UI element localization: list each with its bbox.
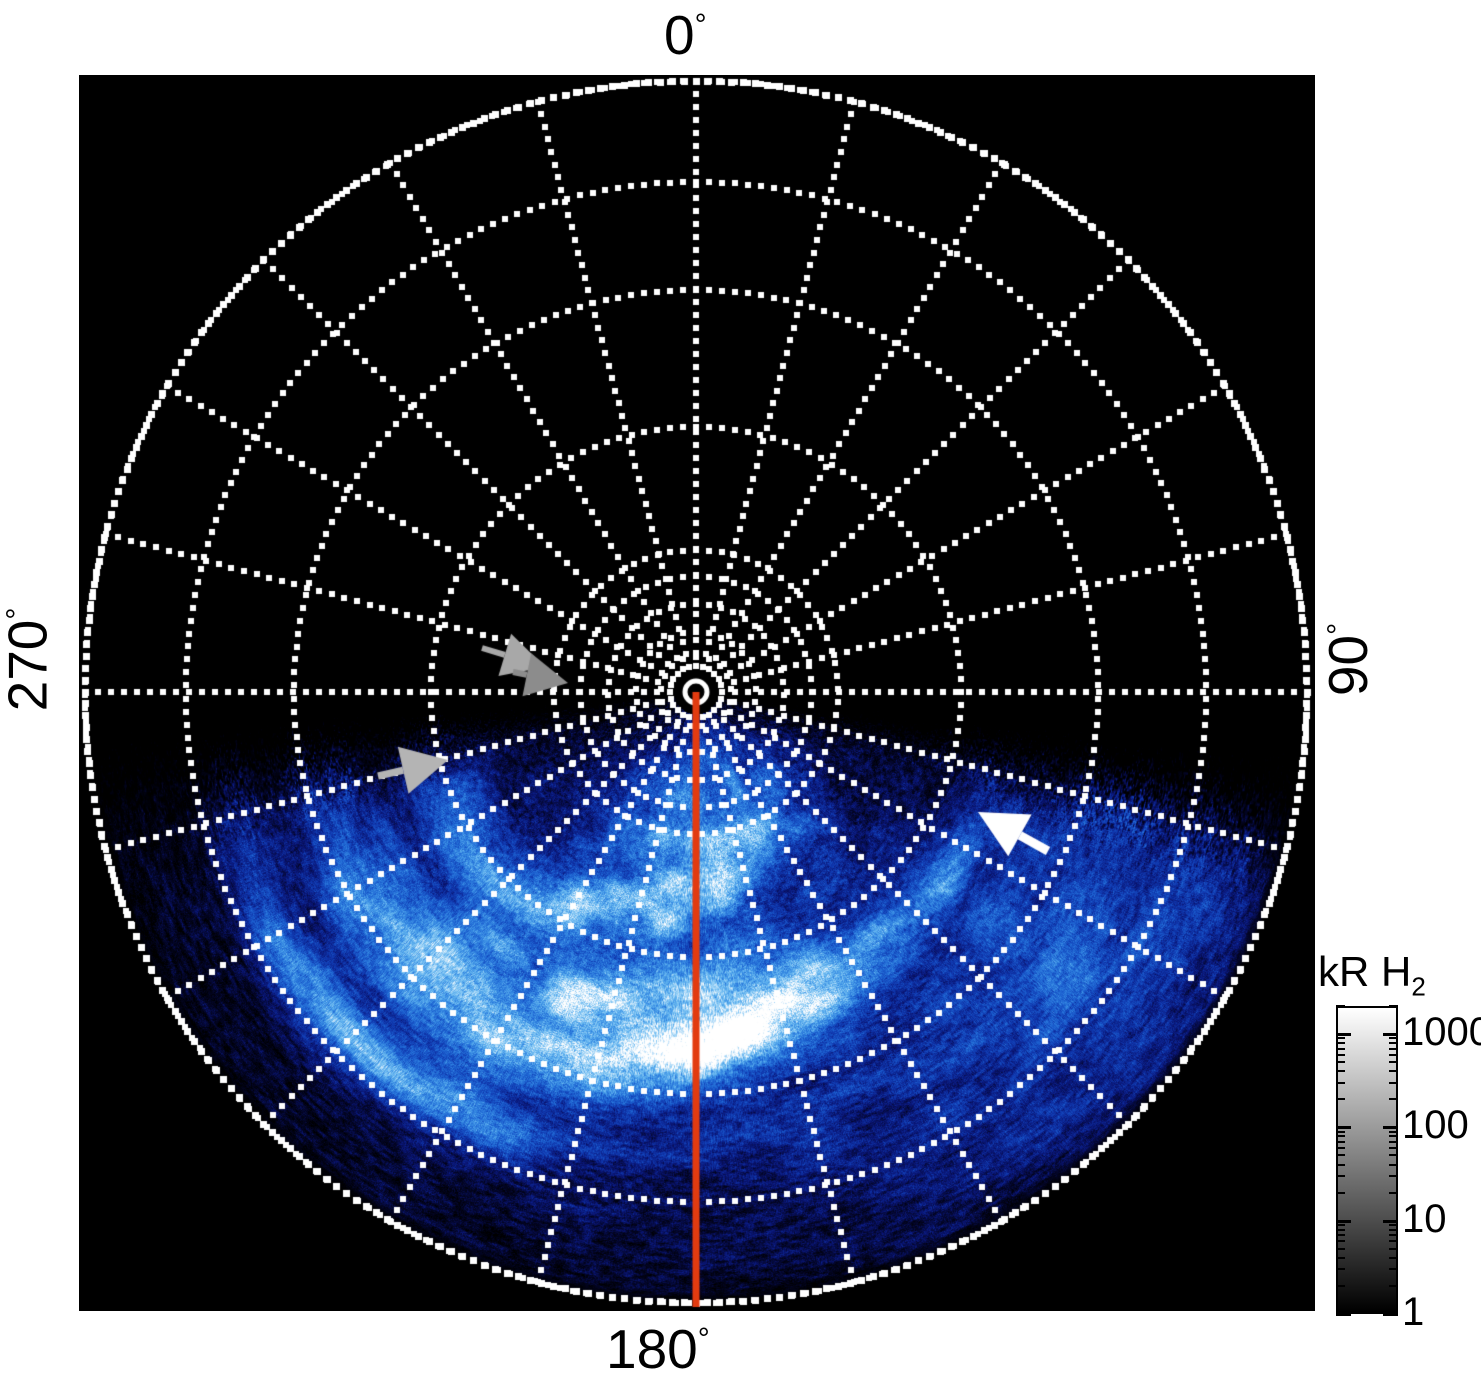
- colorbar-tick: [1336, 1313, 1351, 1316]
- colorbar-tick: [1336, 1033, 1351, 1036]
- colorbar-tick: [1389, 1054, 1398, 1056]
- colorbar-tick: [1389, 1082, 1398, 1084]
- colorbar-wrap: [1336, 1006, 1398, 1314]
- axis-label-180: 180°: [606, 1322, 710, 1377]
- colorbar-tick: [1389, 1175, 1398, 1177]
- colorbar-tick: [1336, 1042, 1345, 1044]
- colorbar-tick: [1336, 1135, 1345, 1137]
- colorbar-tick: [1389, 1164, 1398, 1166]
- colorbar-tick: [1389, 1285, 1398, 1287]
- colorbar-tick: [1336, 1154, 1345, 1156]
- colorbar-tick: [1336, 1147, 1345, 1149]
- colorbar-tick: [1389, 1234, 1398, 1236]
- colorbar-tick: [1389, 1192, 1398, 1194]
- colorbar-tick: [1389, 1098, 1398, 1100]
- colorbar-tick: [1336, 1005, 1345, 1007]
- colorbar-tick: [1383, 1313, 1398, 1316]
- colorbar-tick: [1336, 1234, 1345, 1236]
- colorbar-tick-label: 10: [1402, 1199, 1447, 1239]
- aurora-heatmap-canvas: [79, 75, 1315, 1311]
- colorbar-tick: [1389, 1131, 1398, 1133]
- colorbar-tick: [1389, 1240, 1398, 1242]
- colorbar-tick: [1389, 1248, 1398, 1250]
- colorbar-tick: [1389, 1042, 1398, 1044]
- colorbar-tick: [1389, 1229, 1398, 1231]
- colorbar-tick: [1336, 1131, 1345, 1133]
- colorbar-tick: [1389, 1224, 1398, 1226]
- axis-label-0: 0°: [664, 8, 707, 63]
- axis-label-270: 270°: [0, 608, 55, 712]
- colorbar-tick: [1389, 1154, 1398, 1156]
- colorbar-tick: [1336, 1220, 1351, 1223]
- colorbar-title: kR H2: [1318, 948, 1426, 996]
- colorbar-tick: [1389, 1141, 1398, 1143]
- colorbar-tick-label: 100: [1402, 1105, 1469, 1145]
- colorbar-tick: [1389, 1037, 1398, 1039]
- colorbar-tick-label: 1: [1402, 1292, 1424, 1332]
- colorbar-tick: [1336, 1229, 1345, 1231]
- colorbar-tick: [1336, 1037, 1345, 1039]
- colorbar-tick: [1336, 1070, 1345, 1072]
- figure-stage: 0° 180° 270° 90° kR H2 1000100101: [0, 0, 1481, 1386]
- colorbar-tick: [1383, 1126, 1398, 1129]
- colorbar-tick: [1336, 1224, 1345, 1226]
- colorbar-tick: [1336, 1164, 1345, 1166]
- colorbar-tick: [1336, 1285, 1345, 1287]
- axis-label-90: 90°: [1321, 623, 1376, 696]
- colorbar-tick: [1336, 1098, 1345, 1100]
- colorbar-tick: [1389, 1147, 1398, 1149]
- colorbar-tick: [1336, 1257, 1345, 1259]
- colorbar-tick: [1336, 1248, 1345, 1250]
- colorbar-tick: [1336, 1126, 1351, 1129]
- colorbar-tick: [1383, 1033, 1398, 1036]
- colorbar-tick: [1336, 1082, 1345, 1084]
- colorbar-tick: [1336, 1061, 1345, 1063]
- colorbar-tick: [1389, 1061, 1398, 1063]
- colorbar-tick: [1336, 1192, 1345, 1194]
- colorbar-tick-label: 1000: [1402, 1012, 1481, 1052]
- colorbar-tick: [1389, 1005, 1398, 1007]
- colorbar-tick: [1336, 1268, 1345, 1270]
- colorbar-tick: [1389, 1268, 1398, 1270]
- colorbar-tick: [1389, 1257, 1398, 1259]
- colorbar-tick: [1389, 1048, 1398, 1050]
- colorbar-tick: [1336, 1048, 1345, 1050]
- polar-plot-panel: [79, 75, 1315, 1311]
- colorbar-tick: [1336, 1240, 1345, 1242]
- colorbar-tick: [1383, 1220, 1398, 1223]
- colorbar-tick: [1336, 1175, 1345, 1177]
- colorbar-tick: [1336, 1141, 1345, 1143]
- colorbar-tick: [1336, 1054, 1345, 1056]
- colorbar-tick: [1389, 1070, 1398, 1072]
- colorbar-tick: [1389, 1135, 1398, 1137]
